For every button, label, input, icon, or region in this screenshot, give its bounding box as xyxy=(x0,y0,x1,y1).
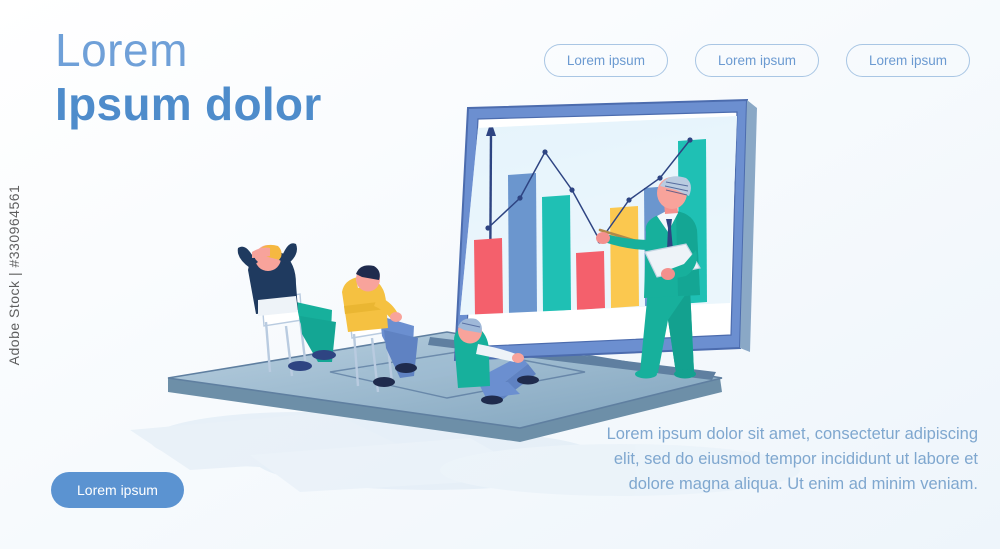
headline-line-1: Lorem xyxy=(55,24,322,76)
nav-button-2[interactable]: Lorem ipsum xyxy=(695,44,819,77)
headline-line-2: Ipsum dolor xyxy=(55,76,322,132)
page-title: Lorem Ipsum dolor xyxy=(55,24,322,132)
body-paragraph: Lorem ipsum dolor sit amet, consectetur … xyxy=(588,422,978,497)
cta-button[interactable]: Lorem ipsum xyxy=(51,472,184,508)
stock-watermark-label: Adobe Stock | #330964561 xyxy=(6,184,22,365)
nav-button-3[interactable]: Lorem ipsum xyxy=(846,44,970,77)
nav-button-1[interactable]: Lorem ipsum xyxy=(544,44,668,77)
laptop-screen xyxy=(455,100,757,360)
top-navigation: Lorem ipsum Lorem ipsum Lorem ipsum xyxy=(544,44,970,77)
illustration-canvas: Adobe Stock Adobe Stock Adobe Stock Adob… xyxy=(0,0,1000,549)
